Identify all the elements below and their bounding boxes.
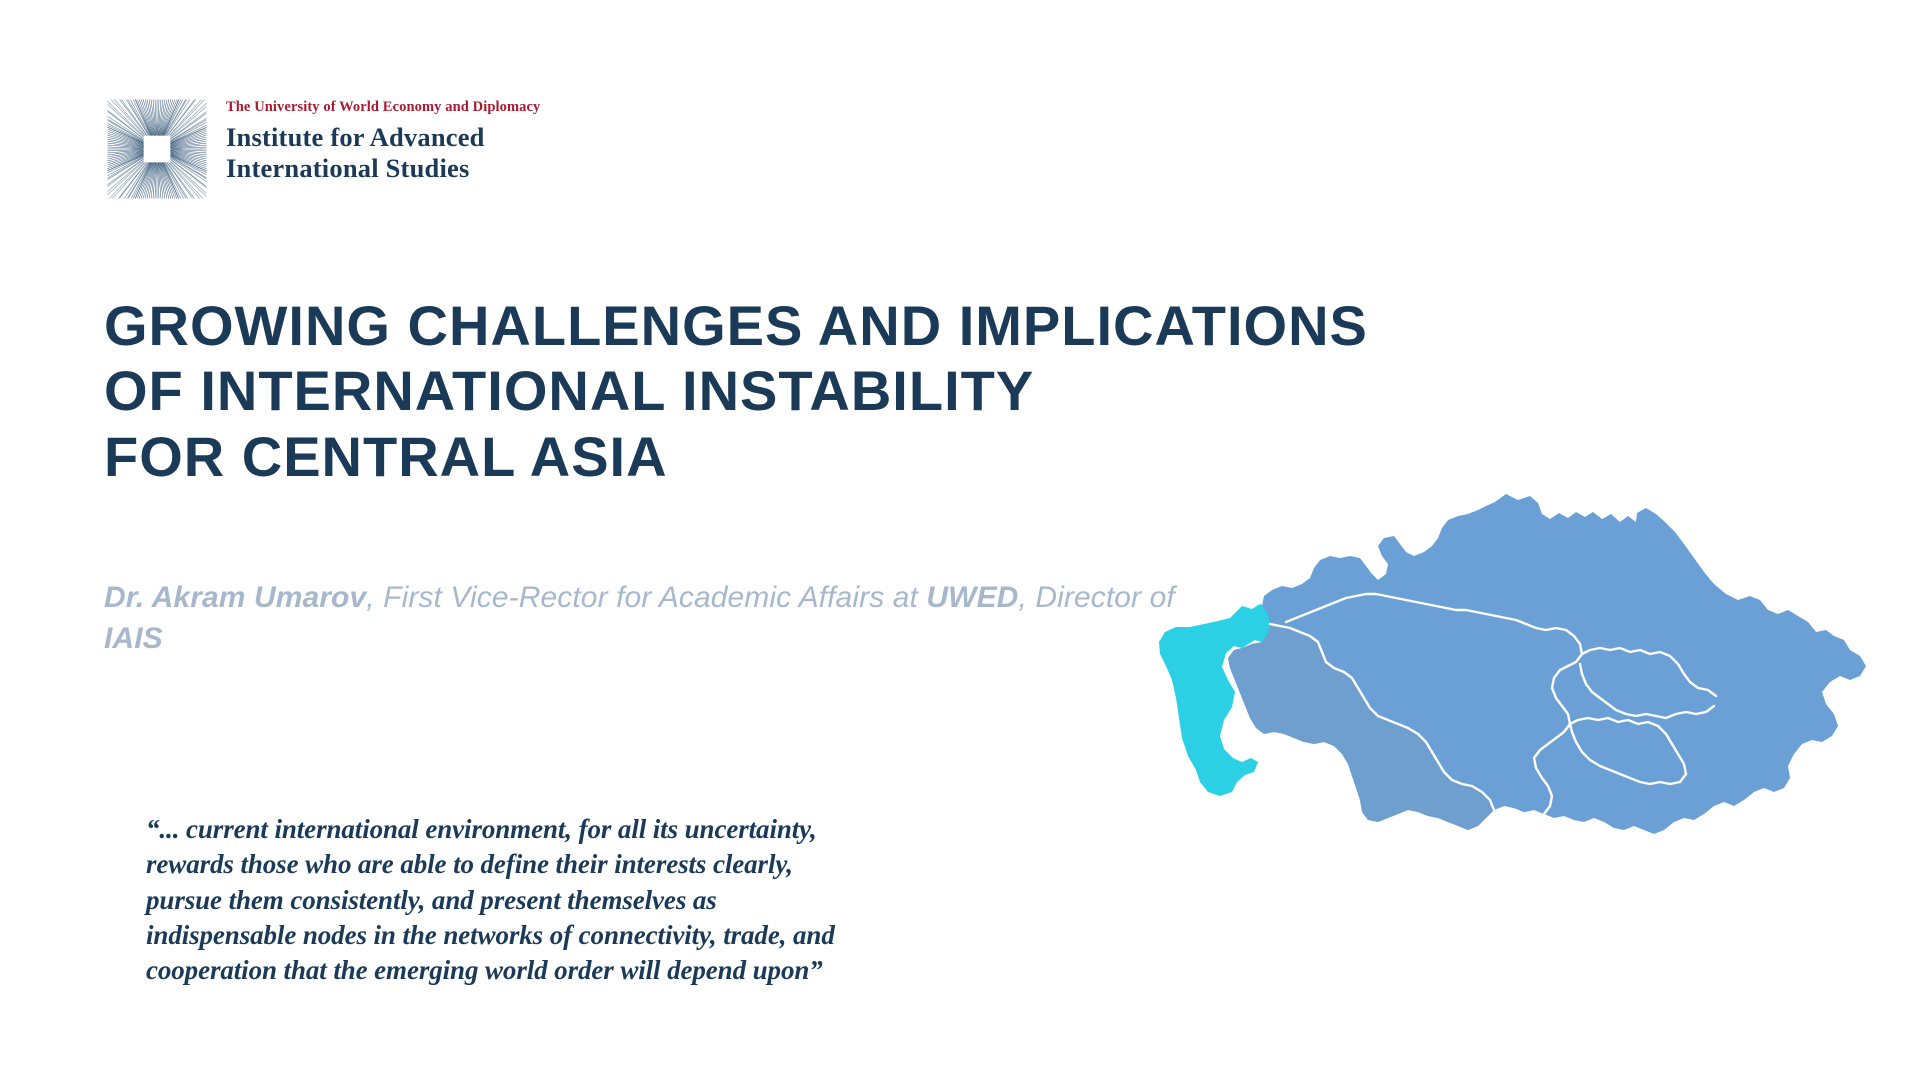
radial-burst-square-mark-icon <box>104 96 210 202</box>
pull-quote-line-2: rewards those who are able to define the… <box>146 847 1126 882</box>
logo-institute-line-1: Institute for Advanced <box>226 122 540 153</box>
author-role-part-1: , First Vice-Rector for Academic Affairs… <box>366 581 926 614</box>
central-asia-map <box>1138 470 1920 1030</box>
institution-logo: The University of World Economy and Dipl… <box>104 96 540 202</box>
logo-institute-line-2: International Studies <box>226 153 540 184</box>
logo-wordmark: The University of World Economy and Dipl… <box>226 96 540 184</box>
pull-quote-line-4: indispensable nodes in the networks of c… <box>146 918 1126 953</box>
central-asia-map-svg <box>1138 470 1920 1030</box>
pull-quote-line-3: pursue them consistently, and present th… <box>146 883 1126 918</box>
pull-quote-line-5: cooperation that the emerging world orde… <box>146 953 1126 988</box>
author-name: Dr. Akram Umarov <box>104 581 366 614</box>
pull-quote-line-1: “... current international environment, … <box>146 812 1126 847</box>
slide-root: The University of World Economy and Dipl… <box>0 0 1920 1080</box>
pull-quote: “... current international environment, … <box>146 812 1126 989</box>
slide-title: GROWING CHALLENGES AND IMPLICATIONS OF I… <box>104 293 1664 490</box>
author-org-iais: IAIS <box>104 622 163 655</box>
author-affiliation: Dr. Akram Umarov, First Vice-Rector for … <box>104 578 1224 660</box>
slide-title-line-2: OF INTERNATIONAL INSTABILITY <box>104 358 1664 424</box>
slide-title-line-1: GROWING CHALLENGES AND IMPLICATIONS <box>104 293 1664 359</box>
author-org-uwed: UWED <box>926 581 1018 614</box>
logo-university-line: The University of World Economy and Dipl… <box>226 100 540 115</box>
